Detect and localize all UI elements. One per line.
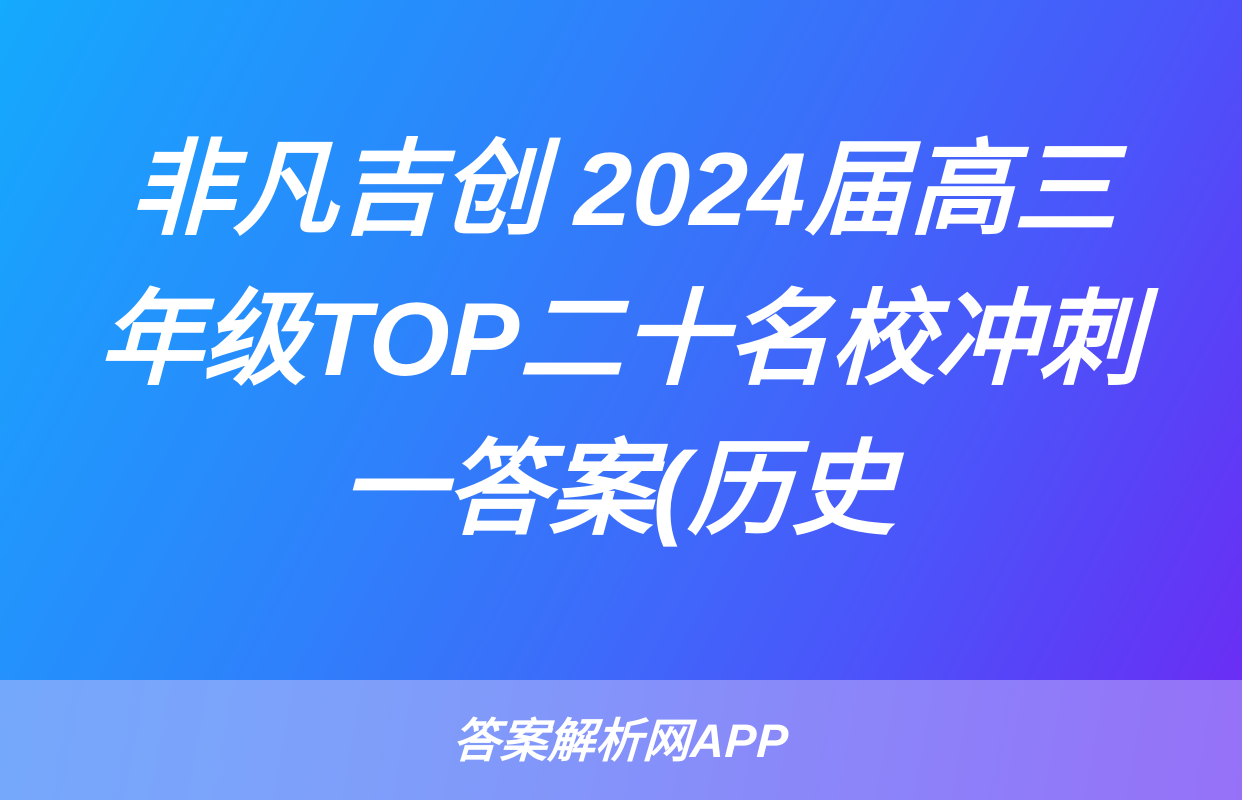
page-title: 非凡吉创 2024届高三年级TOP二十名校冲刺一答案(历史: [72, 115, 1170, 565]
watermark-band: 答案解析网APP: [0, 680, 1242, 800]
poster-canvas: 非凡吉创 2024届高三年级TOP二十名校冲刺一答案(历史 答案解析网APP: [0, 0, 1242, 800]
watermark-label: 答案解析网APP: [452, 717, 790, 764]
hero-banner: 非凡吉创 2024届高三年级TOP二十名校冲刺一答案(历史: [0, 0, 1242, 680]
